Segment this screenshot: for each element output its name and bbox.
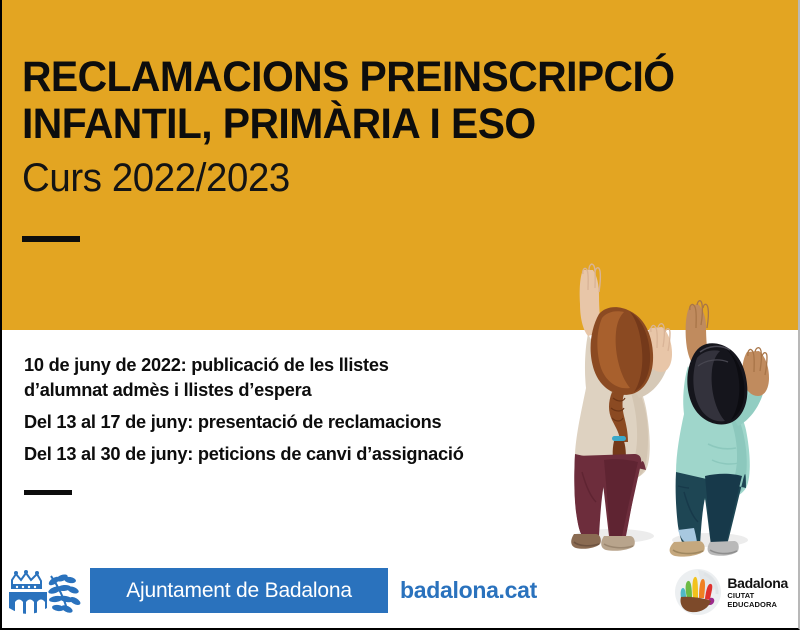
headline-line-1: RECLAMACIONS PREINSCRIPCIÓ <box>22 54 725 101</box>
educating-city-title: Badalona <box>727 576 788 590</box>
city-council-banner[interactable]: Ajuntament de Badalona <box>90 568 388 613</box>
badalona-coat-of-arms-icon <box>6 568 90 616</box>
page-subtitle: Curs 2022/2023 <box>22 156 732 200</box>
footer-bar: Ajuntament de Badalona badalona.cat Bada… <box>2 560 800 628</box>
educating-city-line2: EDUCADORA <box>727 601 788 609</box>
educating-city-line1: CIUTAT <box>727 592 788 600</box>
divider-rule-top <box>22 236 80 242</box>
list-item: 10 de juny de 2022: publicació de les ll… <box>24 352 556 377</box>
page-title: RECLAMACIONS PREINSCRIPCIÓ INFANTIL, PRI… <box>22 54 762 200</box>
list-item: d’alumnat admès i llistes d’espera <box>24 377 556 402</box>
list-item: Del 13 al 30 de juny: peticions de canvi… <box>24 441 556 466</box>
poster-canvas: RECLAMACIONS PREINSCRIPCIÓ INFANTIL, PRI… <box>0 0 800 630</box>
colored-hand-icon <box>674 568 722 616</box>
website-link[interactable]: badalona.cat <box>400 568 537 613</box>
key-dates-list: 10 de juny de 2022: publicació de les ll… <box>24 352 564 466</box>
educating-city-logo: Badalona CIUTAT EDUCADORA <box>674 566 788 618</box>
list-item: Del 13 al 17 de juny: presentació de rec… <box>24 409 556 434</box>
divider-rule-bottom <box>24 490 72 495</box>
two-children-reaching-up-illustration <box>542 248 800 558</box>
headline-line-2: INFANTIL, PRIMÀRIA I ESO <box>22 101 725 148</box>
city-council-label: Ajuntament de Badalona <box>90 568 388 613</box>
